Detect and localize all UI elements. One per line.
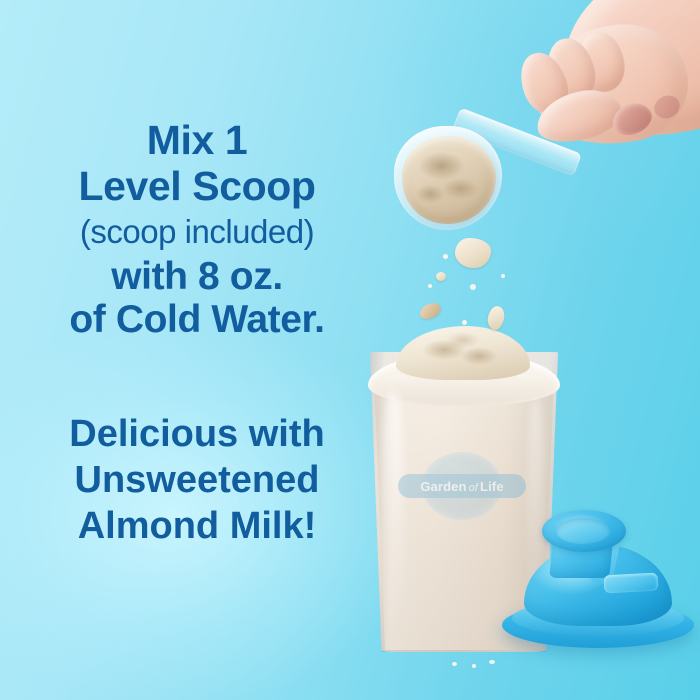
powder-speck bbox=[443, 254, 448, 259]
brand-name: GardenofLife bbox=[420, 479, 503, 494]
brand-name-connector: of bbox=[467, 482, 480, 494]
powder-speck bbox=[472, 664, 476, 668]
subhead-line-3: Almond Milk! bbox=[8, 507, 386, 545]
shaker-lid-flip-cap-inner bbox=[556, 518, 610, 544]
headline-line-4: with 8 oz. bbox=[8, 257, 386, 296]
powder-crumb bbox=[417, 300, 443, 322]
brand-name-part1: Garden bbox=[420, 479, 466, 494]
powder-speck bbox=[489, 660, 495, 664]
marketing-image: Mix 1 Level Scoop (scoop included) with … bbox=[0, 0, 700, 700]
subhead-line-2: Unsweetened bbox=[8, 461, 386, 499]
powder-speck bbox=[428, 284, 432, 288]
powder-mound-on-shake bbox=[396, 326, 530, 380]
powder-speck bbox=[462, 320, 467, 325]
subhead-block: Delicious with Unsweetened Almond Milk! bbox=[8, 415, 386, 545]
brand-name-part2: Life bbox=[480, 479, 504, 494]
brand-name-band: GardenofLife bbox=[398, 474, 526, 498]
shaker-lid-tab bbox=[604, 573, 659, 594]
powder-crumb bbox=[436, 272, 446, 281]
headline-line-2: Level Scoop bbox=[8, 166, 386, 207]
powder-speck bbox=[452, 662, 457, 666]
powder-crumb bbox=[455, 238, 491, 268]
subhead-line-1: Delicious with bbox=[8, 415, 386, 453]
powder-speck bbox=[470, 284, 476, 290]
headline-block: Mix 1 Level Scoop (scoop included) with … bbox=[8, 120, 386, 339]
headline-line-1: Mix 1 bbox=[8, 120, 386, 161]
headline-line-5: of Cold Water. bbox=[8, 300, 386, 339]
powder-speck bbox=[501, 274, 505, 278]
brand-badge: GardenofLife bbox=[398, 450, 526, 522]
powder-crumb bbox=[486, 305, 507, 332]
headline-line-3: (scoop included) bbox=[8, 215, 386, 248]
